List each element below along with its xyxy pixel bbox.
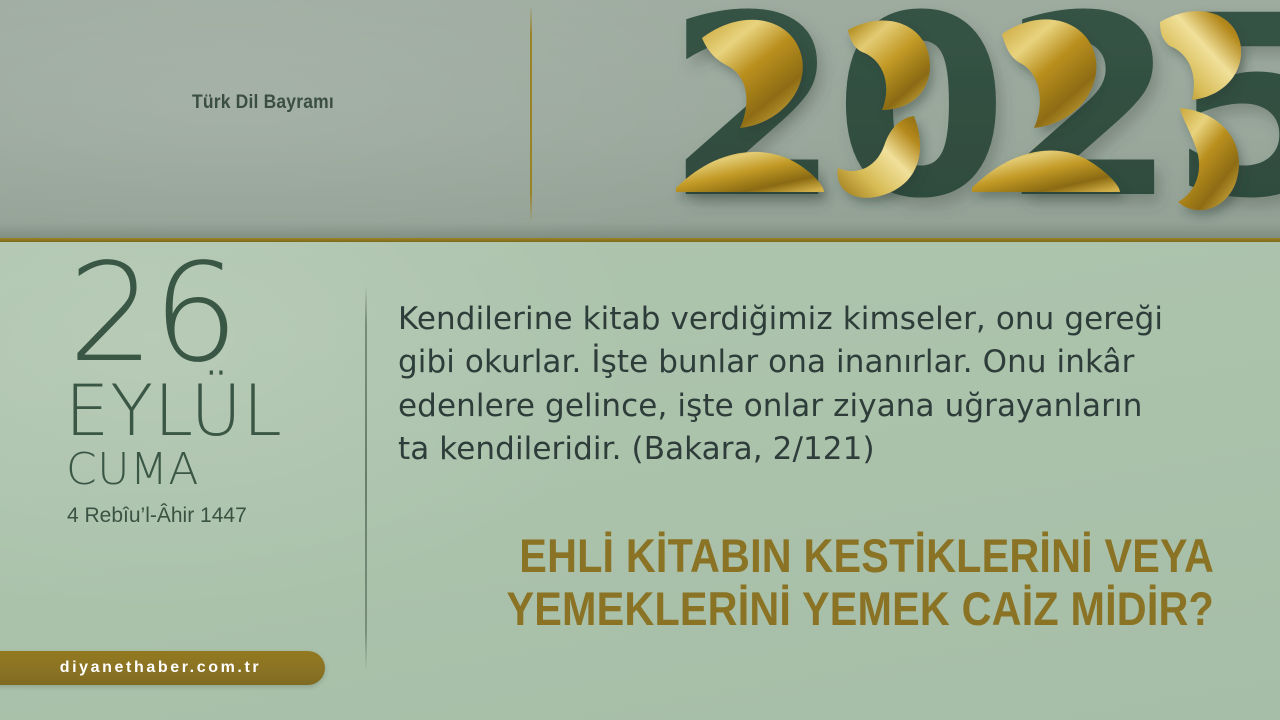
site-badge[interactable]: diyanethaber.com.tr xyxy=(0,651,325,685)
date-weekday: CUMA xyxy=(66,448,342,492)
poster-body: 26 EYLÜL CUMA 4 Rebîu’l-Âhir 1447 Kendil… xyxy=(0,242,1280,720)
date-month: EYLÜL xyxy=(65,379,342,443)
date-day: 26 xyxy=(68,257,342,371)
header-occasion-label: Türk Dil Bayramı xyxy=(192,92,334,114)
calendar-poster: Türk Dil Bayramı xyxy=(0,0,1280,720)
year-2025-artwork: 2025 xyxy=(666,0,1280,238)
headline-line-1: EHLİ KİTABIN KESTİKLERİNİ VEYA xyxy=(496,530,1214,583)
headline: EHLİ KİTABIN KESTİKLERİNİ VEYA YEMEKLERİ… xyxy=(398,530,1214,635)
date-hijri: 4 Rebîu’l-Âhir 1447 xyxy=(67,504,342,528)
date-block: 26 EYLÜL CUMA 4 Rebîu’l-Âhir 1447 xyxy=(62,257,342,528)
quote-text: Kendilerine kitab verdiğimiz kimseler, o… xyxy=(398,298,1166,472)
site-badge-text: diyanethaber.com.tr xyxy=(60,659,261,677)
poster-header: Türk Dil Bayramı xyxy=(0,0,1280,238)
column-divider xyxy=(365,285,367,670)
header-vertical-gold-divider xyxy=(530,5,532,223)
headline-line-2: YEMEKLERİNİ YEMEK CAİZ MİDİR? xyxy=(496,583,1214,636)
